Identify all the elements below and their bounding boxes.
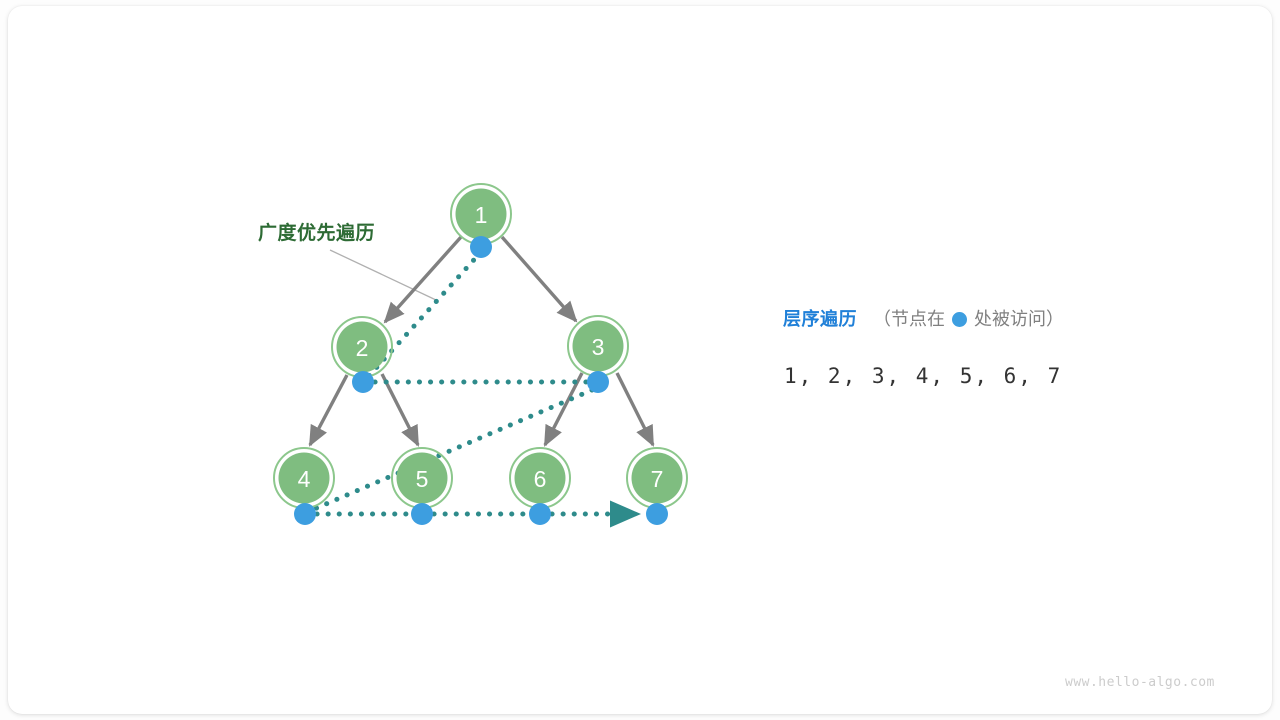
figure-canvas: 1 2 3 4 5 — [0, 0, 1280, 720]
tree-node-6[interactable]: 6 — [510, 448, 570, 508]
watermark: www.hello-algo.com — [1065, 675, 1215, 690]
tree-node-4[interactable]: 4 — [274, 448, 334, 508]
visit-dot-icon-7[interactable] — [646, 503, 668, 525]
node-label-5: 5 — [416, 466, 429, 492]
tree-node-5[interactable]: 5 — [392, 448, 452, 508]
tree-edge-1-3 — [502, 237, 576, 321]
node-label-6: 6 — [534, 466, 547, 492]
visit-dot-icon-1[interactable] — [470, 236, 492, 258]
annotation-leader-line — [330, 250, 436, 300]
tree-node-7[interactable]: 7 — [627, 448, 687, 508]
visit-dot-icon-3[interactable] — [587, 371, 609, 393]
tree-node-3[interactable]: 3 — [568, 316, 628, 376]
node-label-2: 2 — [356, 335, 369, 361]
visit-dot-icon-6[interactable] — [529, 503, 551, 525]
traversal-seg-1-2 — [368, 252, 481, 377]
legend-title: 层序遍历 — [783, 305, 857, 331]
visit-dot-icon-5[interactable] — [411, 503, 433, 525]
legend-note: （节点在 处被访问） — [873, 305, 1064, 331]
binary-tree-diagram: 1 2 3 4 5 — [0, 0, 1280, 720]
tree-edge-1-2 — [385, 237, 461, 322]
legend-note-after: 处被访问） — [974, 305, 1064, 331]
legend-note-before: （节点在 — [873, 305, 945, 331]
visit-dot-icon — [952, 312, 967, 327]
legend: 层序遍历 （节点在 处被访问） — [783, 305, 1064, 331]
node-label-7: 7 — [651, 466, 664, 492]
traversal-sequence: 1, 2, 3, 4, 5, 6, 7 — [784, 364, 1062, 388]
node-label-4: 4 — [298, 466, 311, 492]
tree-edge-2-5 — [382, 374, 418, 445]
tree-edge-2-4 — [310, 375, 347, 445]
tree-edge-3-7 — [617, 373, 653, 445]
node-label-3: 3 — [592, 334, 605, 360]
tree-node-1[interactable]: 1 — [451, 184, 511, 244]
tree-node-2[interactable]: 2 — [332, 317, 392, 377]
visit-dot-icon-4[interactable] — [294, 503, 316, 525]
visit-dot-icon-2[interactable] — [352, 371, 374, 393]
visit-dot-group — [294, 236, 668, 525]
bfs-annotation-label: 广度优先遍历 — [258, 218, 375, 245]
node-label-1: 1 — [475, 202, 488, 228]
